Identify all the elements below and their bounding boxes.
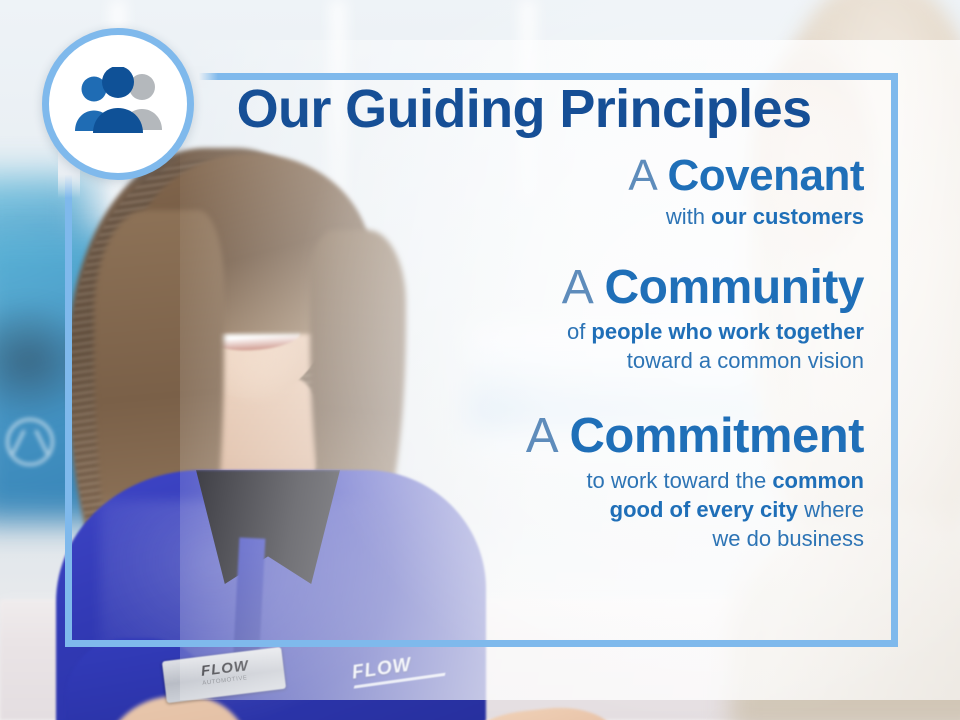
subtext-plain: toward a common vision <box>627 348 864 373</box>
promotional-banner: FLOW AUTOMOTIVE FLOW Our Guiding Princip… <box>0 0 960 720</box>
content-block: Our Guiding Principles A Covenant with o… <box>180 82 880 557</box>
principle-commitment-word: Commitment <box>570 409 864 463</box>
subtext-plain: we do business <box>712 526 864 551</box>
principle-community: A Community of people who work togethert… <box>180 261 880 375</box>
subtext-line: with our customers <box>180 202 864 231</box>
principle-community-title: A Community <box>180 261 864 315</box>
subtext-line: good of every city where <box>180 495 864 524</box>
principle-covenant-word: Covenant <box>668 151 864 200</box>
principle-commitment: A Commitment to work toward the commongo… <box>180 409 880 553</box>
subtext-line: of people who work together <box>180 317 864 346</box>
subtext-emphasis: good of every city <box>610 497 798 522</box>
subtext-emphasis: people who work together <box>591 319 864 344</box>
subtext-plain: of <box>567 319 591 344</box>
principle-commitment-subtext: to work toward the commongood of every c… <box>180 466 864 553</box>
principle-covenant-subtext: with our customers <box>180 202 864 231</box>
principle-community-subtext: of people who work togethertoward a comm… <box>180 317 864 375</box>
subtext-emphasis: our customers <box>711 204 864 229</box>
group-people-icon <box>66 67 170 141</box>
group-people-badge <box>42 28 194 180</box>
subtext-line: toward a common vision <box>180 346 864 375</box>
principle-community-article: A <box>562 261 591 314</box>
subtext-line: we do business <box>180 524 864 553</box>
principle-covenant: A Covenant with our customers <box>180 151 880 231</box>
principle-commitment-title: A Commitment <box>180 409 864 464</box>
vw-emblem-blur-icon <box>6 418 54 466</box>
subtext-plain: where <box>798 497 864 522</box>
principle-covenant-title: A Covenant <box>180 151 864 200</box>
subtext-emphasis: common <box>772 468 864 493</box>
principle-commitment-article: A <box>526 409 556 463</box>
subtext-plain: to work toward the <box>586 468 772 493</box>
page-title: Our Guiding Principles <box>180 82 880 137</box>
principle-community-word: Community <box>605 261 865 314</box>
subtext-line: to work toward the common <box>180 466 864 495</box>
principle-covenant-article: A <box>628 151 655 200</box>
subtext-plain: with <box>666 204 711 229</box>
